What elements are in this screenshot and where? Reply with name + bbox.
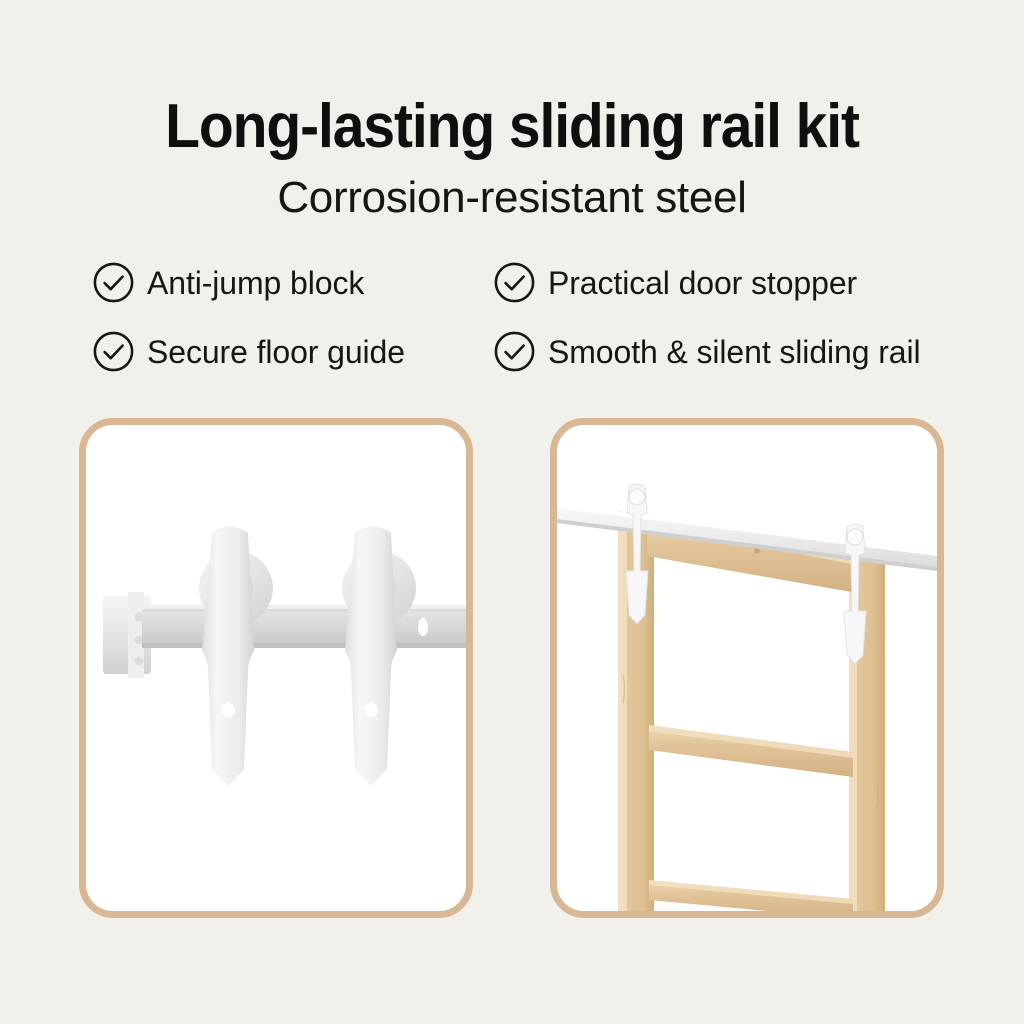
wooden-door-frame-card [550, 418, 944, 918]
page-subtitle: Corrosion-resistant steel [0, 172, 1024, 224]
circle-check-icon [494, 262, 535, 303]
feature-item-smooth-silent-sliding-rail: Smooth & silent sliding rail [494, 331, 934, 372]
page-title: Long-lasting sliding rail kit [41, 94, 983, 160]
feature-label: Anti-jump block [147, 265, 364, 301]
sliding-rail-hardware-photo [86, 425, 466, 911]
circle-check-icon [93, 331, 134, 372]
feature-item-anti-jump-block: Anti-jump block [93, 262, 494, 303]
feature-row-bottom: Secure floor guide Smooth & silent slidi… [93, 331, 953, 372]
circle-check-icon [494, 331, 535, 372]
feature-label: Practical door stopper [548, 265, 857, 301]
sliding-rail-hardware-card [79, 418, 473, 918]
rail-graphic [142, 605, 466, 648]
feature-row-top: Anti-jump block Practical door stopper [93, 262, 953, 303]
circle-check-icon [93, 262, 134, 303]
feature-label: Smooth & silent sliding rail [548, 334, 920, 370]
feature-item-practical-door-stopper: Practical door stopper [494, 262, 934, 303]
wooden-door-frame-photo [557, 425, 937, 911]
feature-label: Secure floor guide [147, 334, 405, 370]
feature-item-secure-floor-guide: Secure floor guide [93, 331, 494, 372]
